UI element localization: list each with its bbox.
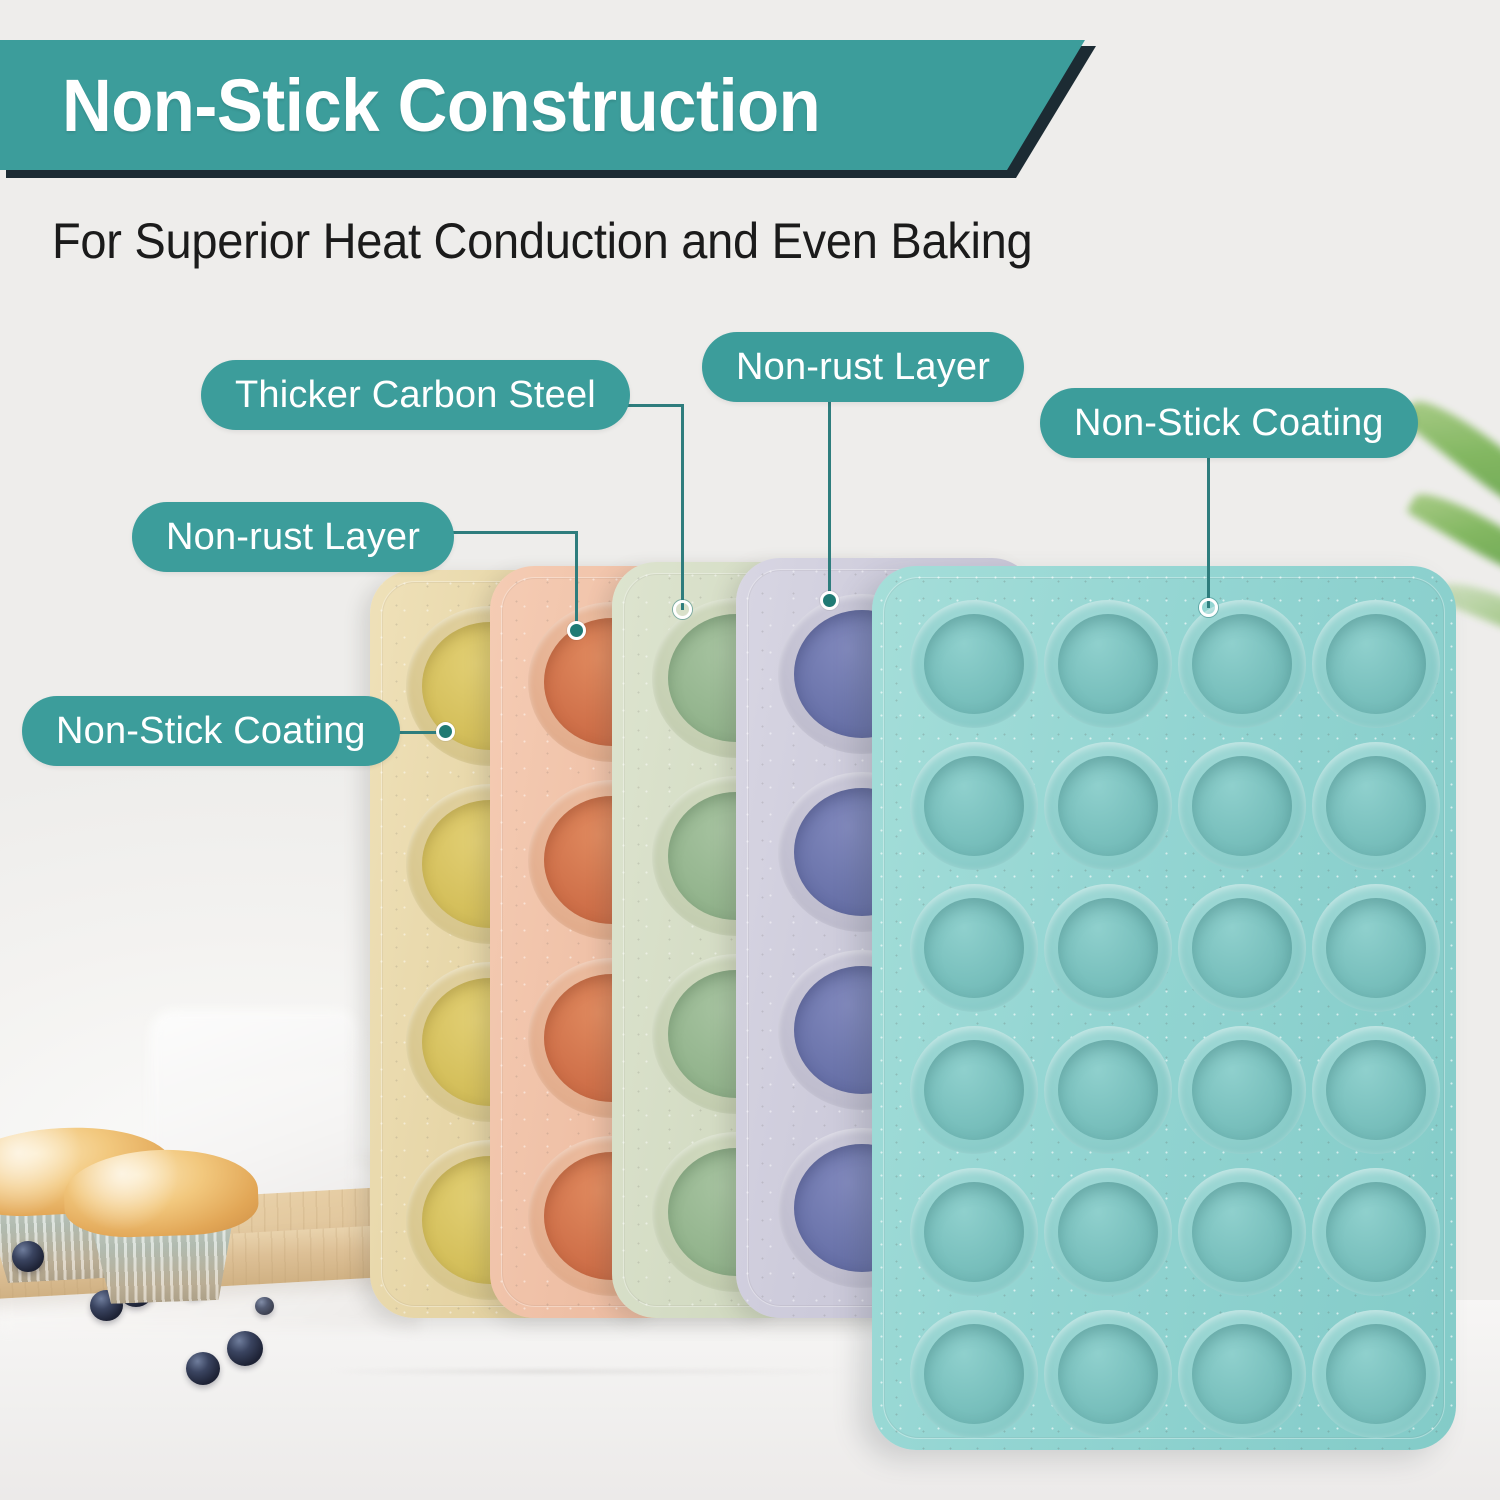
pan-cup bbox=[1178, 1168, 1306, 1296]
pan-cup-well bbox=[1058, 1182, 1158, 1282]
callout-endpoint-dot bbox=[1199, 598, 1218, 617]
pan-cup bbox=[1044, 600, 1172, 728]
connector-line bbox=[440, 531, 578, 534]
connector-line bbox=[828, 395, 831, 602]
pan-cup-well bbox=[924, 1040, 1024, 1140]
pan-cup bbox=[910, 1310, 1038, 1438]
pan-cup-well bbox=[1058, 614, 1158, 714]
blueberry bbox=[227, 1331, 263, 1366]
blueberry bbox=[186, 1352, 220, 1385]
pan-cup-well bbox=[924, 1324, 1024, 1424]
infographic-canvas: Thicker Carbon Steel Non-rust Layer Non-… bbox=[0, 0, 1500, 1500]
pan-cup bbox=[1044, 1026, 1172, 1154]
pan-cup bbox=[1178, 1310, 1306, 1438]
connector-line bbox=[575, 531, 578, 631]
pan-cup bbox=[1312, 884, 1440, 1012]
callout-endpoint-dot bbox=[436, 722, 455, 741]
pan-cup bbox=[1044, 742, 1172, 870]
blueberry bbox=[255, 1297, 274, 1315]
page-title: Non-Stick Construction bbox=[62, 63, 820, 148]
pan-cup bbox=[910, 742, 1038, 870]
pan-cup bbox=[910, 1168, 1038, 1296]
callout-label-text: Non-Stick Coating bbox=[1074, 402, 1384, 445]
pan-cup-well bbox=[924, 756, 1024, 856]
callout-label-non-rust-layer-top[interactable]: Non-rust Layer bbox=[702, 332, 1024, 402]
pan-cup bbox=[910, 884, 1038, 1012]
connector-line bbox=[1207, 452, 1210, 608]
pan-cup-well bbox=[1192, 898, 1292, 998]
pan-cup-well bbox=[1192, 1182, 1292, 1282]
pan-cup-well bbox=[1326, 756, 1426, 856]
pan-cup-well bbox=[924, 898, 1024, 998]
pan-cup-well bbox=[1058, 1040, 1158, 1140]
pan-cup bbox=[1178, 884, 1306, 1012]
title-banner: Non-Stick Construction bbox=[0, 40, 1085, 170]
pan-cup bbox=[910, 1026, 1038, 1154]
blueberry bbox=[12, 1241, 44, 1272]
pan-cup bbox=[1044, 1168, 1172, 1296]
pan-cup-well bbox=[1326, 1324, 1426, 1424]
pan-cup-well bbox=[924, 614, 1024, 714]
callout-endpoint-dot bbox=[820, 591, 839, 610]
callout-label-non-stick-coating-left[interactable]: Non-Stick Coating bbox=[22, 696, 400, 766]
pan-cup bbox=[1312, 742, 1440, 870]
pan-cup-well bbox=[1326, 1182, 1426, 1282]
muffin-top bbox=[62, 1147, 260, 1240]
pan-cup bbox=[910, 600, 1038, 728]
callout-label-text: Non-Stick Coating bbox=[56, 710, 366, 753]
pan-cup-well bbox=[1326, 898, 1426, 998]
pan-cup bbox=[1178, 1026, 1306, 1154]
callout-label-non-rust-layer-left[interactable]: Non-rust Layer bbox=[132, 502, 454, 572]
pan-cup bbox=[1178, 742, 1306, 870]
pan-cup bbox=[1312, 1168, 1440, 1296]
pan-cup-well bbox=[1192, 756, 1292, 856]
pan-cup bbox=[1044, 1310, 1172, 1438]
pan-cup-well bbox=[1192, 614, 1292, 714]
callout-endpoint-dot bbox=[567, 621, 586, 640]
pan-cup-well bbox=[1326, 1040, 1426, 1140]
connector-line bbox=[681, 404, 684, 610]
pan-cup-well bbox=[1058, 1324, 1158, 1424]
callout-label-text: Non-rust Layer bbox=[166, 516, 420, 559]
callout-label-non-stick-coating-right[interactable]: Non-Stick Coating bbox=[1040, 388, 1418, 458]
callout-label-text: Thicker Carbon Steel bbox=[235, 374, 596, 417]
callout-label-thicker-carbon-steel[interactable]: Thicker Carbon Steel bbox=[201, 360, 630, 430]
callout-label-text: Non-rust Layer bbox=[736, 346, 990, 389]
pan-cup-well bbox=[1326, 614, 1426, 714]
pan-cup bbox=[1178, 600, 1306, 728]
pan-cup-well bbox=[1058, 756, 1158, 856]
pan-cup-well bbox=[1192, 1324, 1292, 1424]
callout-endpoint-dot bbox=[673, 600, 692, 619]
pan-cup-well bbox=[1058, 898, 1158, 998]
pan-cup-well bbox=[1192, 1040, 1292, 1140]
pan-cup bbox=[1312, 600, 1440, 728]
pan-cup bbox=[1044, 884, 1172, 1012]
page-subtitle: For Superior Heat Conduction and Even Ba… bbox=[52, 212, 1032, 270]
pan-cup bbox=[1312, 1310, 1440, 1438]
muffin bbox=[76, 1147, 249, 1295]
muffin-pan-teal[interactable] bbox=[872, 566, 1456, 1450]
pan-cup bbox=[1312, 1026, 1440, 1154]
pan-cup-well bbox=[924, 1182, 1024, 1282]
